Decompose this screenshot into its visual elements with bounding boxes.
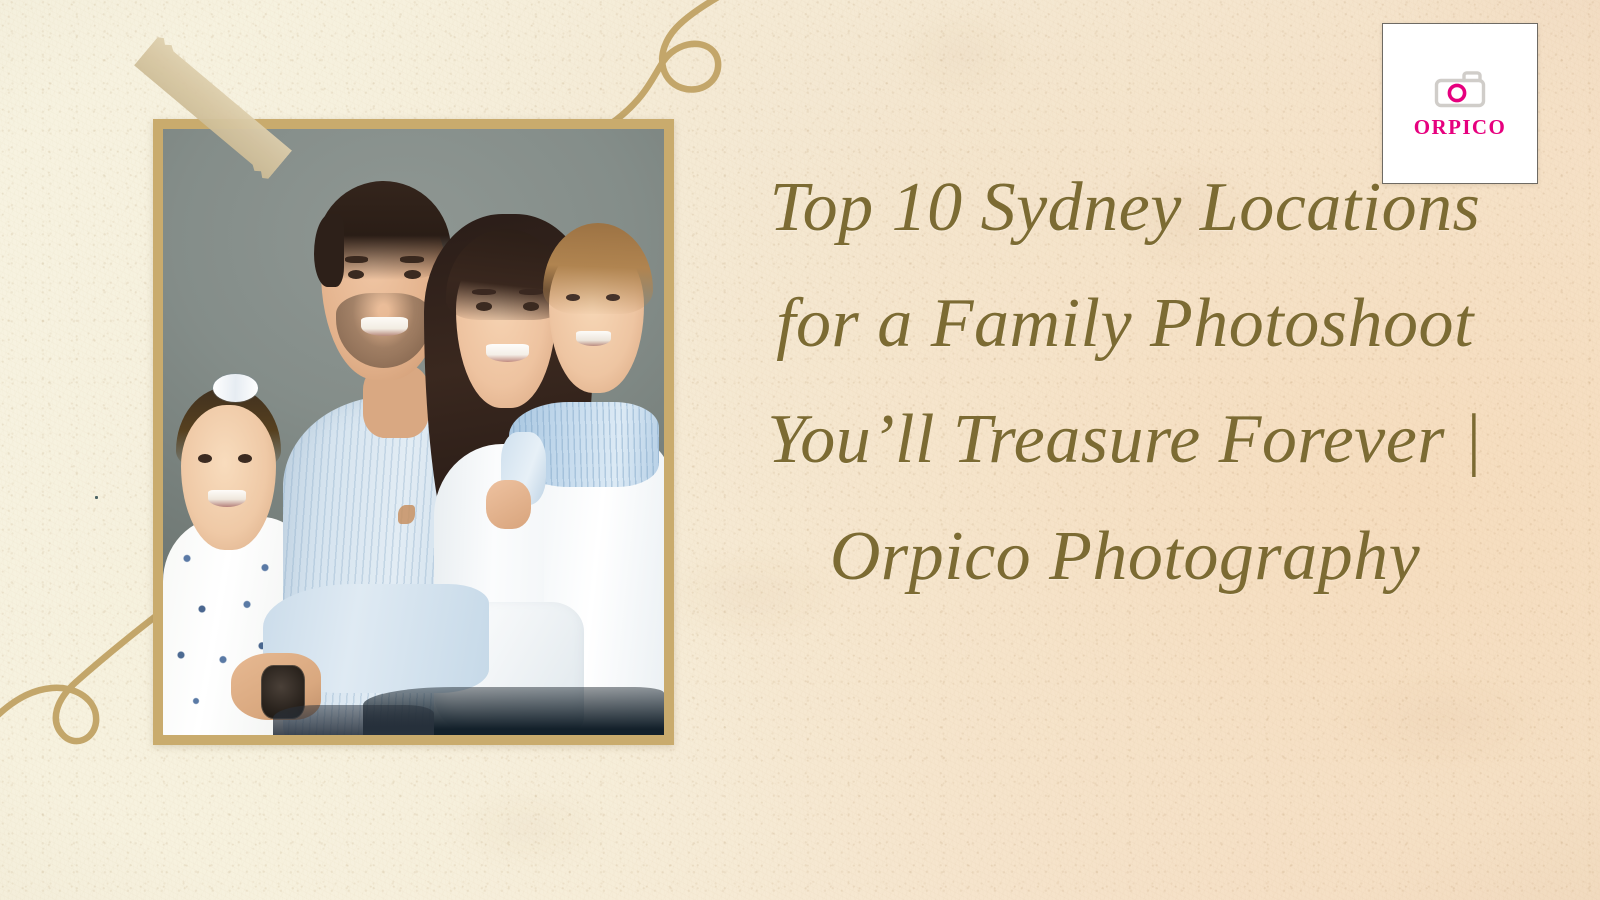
orpico-logo-card[interactable]: ORPICO	[1382, 23, 1538, 184]
baby-left-eye	[198, 454, 212, 463]
paper-speck	[95, 496, 98, 499]
father-right-brow	[400, 256, 423, 263]
father-sideburn	[314, 214, 344, 287]
boy-smile	[576, 331, 611, 346]
mother-left-brow	[472, 289, 496, 295]
father-shirt-logo	[398, 505, 414, 524]
baby-face	[181, 405, 276, 550]
baby-right-eye	[238, 454, 252, 463]
boy-hand	[486, 480, 531, 528]
mother-right-eye	[523, 302, 539, 310]
father-left-brow	[345, 256, 368, 263]
mother-left-eye	[476, 302, 492, 310]
father-left-eye	[348, 270, 364, 279]
photo-frame	[153, 119, 674, 745]
family-portrait-photo	[163, 129, 664, 735]
camera-icon	[1433, 69, 1487, 109]
page-title: Top 10 Sydney Locations for a Family Pho…	[745, 150, 1505, 615]
orpico-wordmark: ORPICO	[1414, 117, 1506, 138]
father-right-eye	[404, 270, 420, 279]
mother-smile	[486, 344, 529, 362]
photo-foreground-shadow-2	[273, 705, 433, 735]
mother-right-brow	[519, 289, 543, 295]
baby-smile	[208, 490, 246, 507]
poster-canvas: Top 10 Sydney Locations for a Family Pho…	[0, 0, 1600, 900]
